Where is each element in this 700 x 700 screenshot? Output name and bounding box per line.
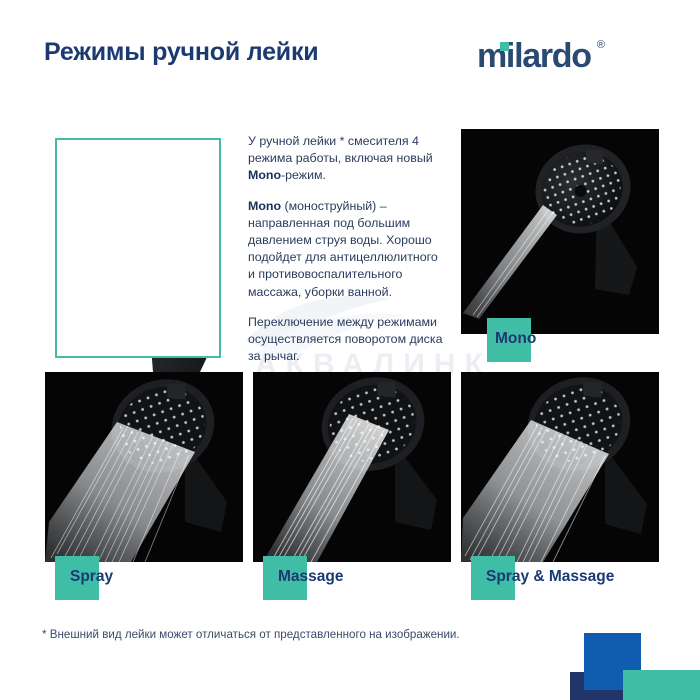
mode-label-spray-massage: Spray & Massage bbox=[486, 568, 614, 586]
description-paragraph-3: Переключение между режимами осуществляет… bbox=[248, 314, 448, 366]
mode-label-mono: Mono bbox=[495, 330, 536, 348]
mode-panel-massage bbox=[253, 372, 451, 562]
desc-p2-b: (моноструйный) – направленная под больши… bbox=[248, 199, 438, 299]
brand-registered-mark: ® bbox=[597, 40, 604, 51]
description-paragraph-2: Mono (моноструйный) – направленная под б… bbox=[248, 198, 448, 301]
mode-label-massage: Massage bbox=[278, 568, 343, 586]
brand-logo: milardo ® bbox=[477, 39, 591, 73]
infographic-page: АКВАЛИНК Режимы ручной лейки milardo ® bbox=[0, 0, 700, 700]
hero-image-frame bbox=[55, 138, 221, 358]
page-title: Режимы ручной лейки bbox=[44, 38, 318, 67]
mode-panel-mono bbox=[461, 129, 659, 334]
desc-p2-bold: Mono bbox=[248, 199, 281, 213]
desc-p1-c: -режим. bbox=[281, 168, 326, 182]
description-text: У ручной лейки * смесителя 4 режима рабо… bbox=[248, 133, 448, 378]
mode-panel-spray-massage bbox=[461, 372, 659, 562]
description-paragraph-1: У ручной лейки * смесителя 4 режима рабо… bbox=[248, 133, 448, 185]
decor-square-teal bbox=[623, 670, 700, 700]
footnote-text: * Внешний вид лейки может отличаться от … bbox=[42, 628, 460, 641]
brand-logo-dot-icon bbox=[500, 42, 509, 51]
mode-panel-spray bbox=[45, 372, 243, 562]
desc-p1-a: У ручной лейки * смесителя 4 режима рабо… bbox=[248, 134, 433, 165]
mode-label-spray: Spray bbox=[70, 568, 113, 586]
desc-p1-bold: Mono bbox=[248, 168, 281, 182]
brand-logo-text: milardo bbox=[477, 37, 591, 75]
